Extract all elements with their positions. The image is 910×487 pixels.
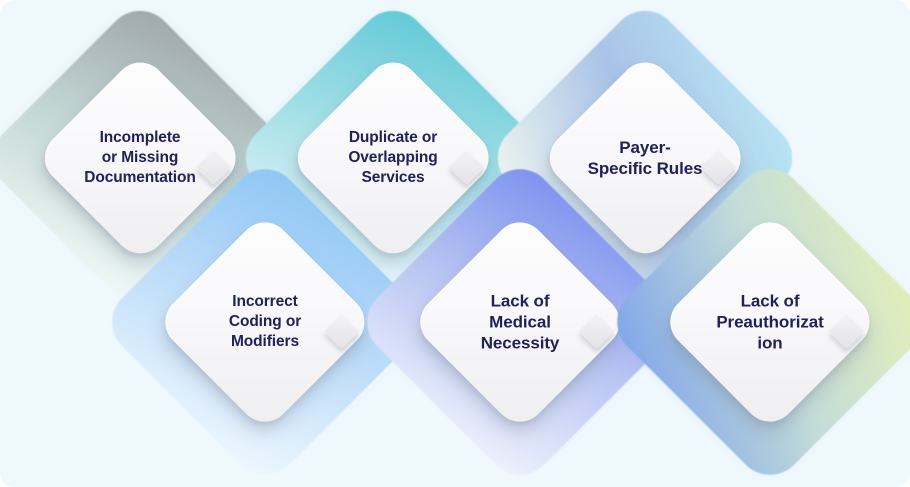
diamond-card-incorrect-coding-or-modifiers[interactable]: Incorrect Coding or Modifiers — [147, 204, 383, 440]
diamond-inner-wrap: Incorrect Coding or Modifiers — [187, 244, 343, 400]
diamond-card-lack-of-medical-necessity[interactable]: Lack of Medical Necessity — [402, 204, 638, 440]
infographic-canvas: Incomplete or Missing DocumentationDupli… — [0, 0, 910, 487]
diamond-inner-wrap: Lack of Medical Necessity — [442, 244, 598, 400]
diamond-card-lack-of-preauthorization[interactable]: Lack of Preauthorizat ion — [652, 204, 888, 440]
diamond-inner-wrap: Lack of Preauthorizat ion — [692, 244, 848, 400]
